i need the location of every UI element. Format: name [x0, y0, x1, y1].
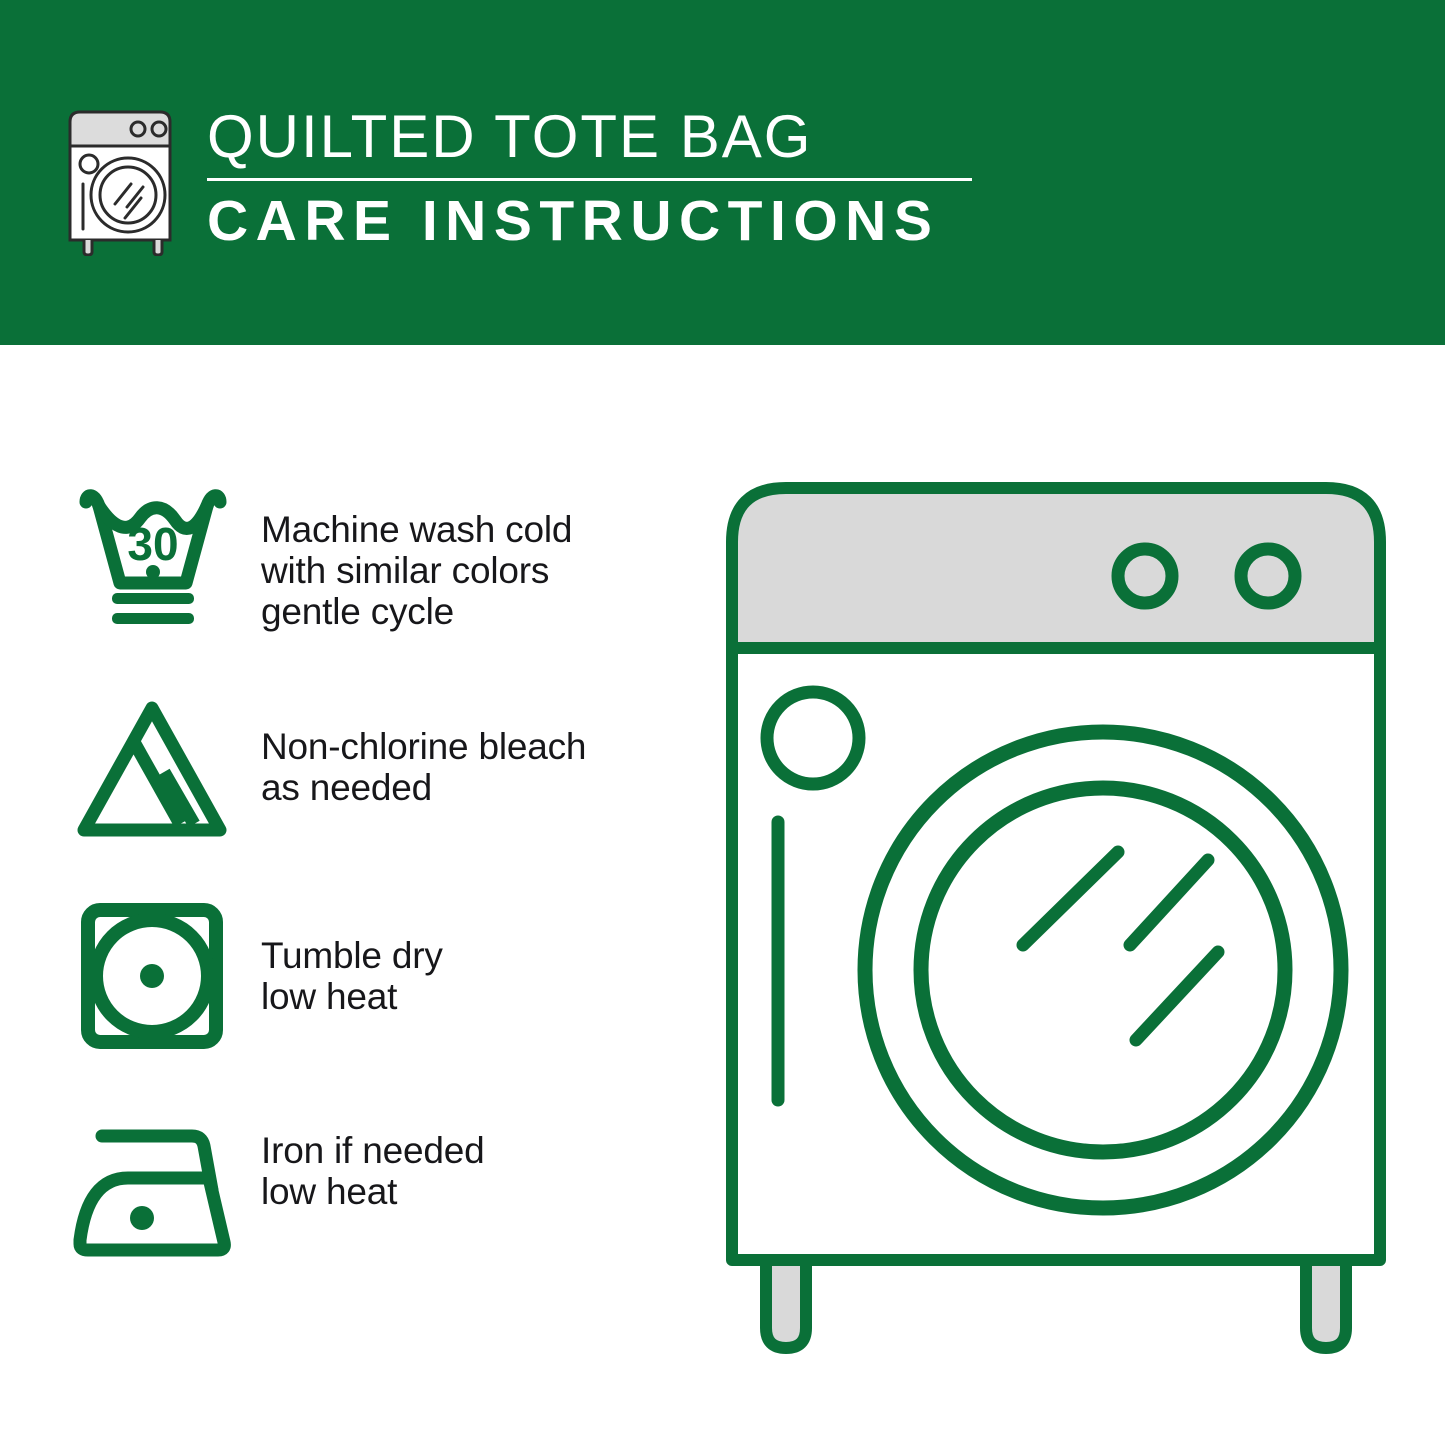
page-title: QUILTED TOTE BAG	[207, 104, 1007, 170]
instruction-text-wash: Machine wash cold with similar colors ge…	[236, 480, 700, 632]
front-load-washing-machine-illustration	[718, 470, 1408, 1370]
tumble-dry-icon	[68, 896, 236, 1056]
washer-control-panel	[732, 488, 1380, 648]
wash-tub-icon: 30	[68, 480, 236, 640]
instruction-line: Tumble dry	[261, 935, 700, 976]
iron-icon	[68, 1104, 236, 1264]
instruction-line: as needed	[261, 767, 700, 808]
header-banner: QUILTED TOTE BAG CARE INSTRUCTIONS	[0, 0, 1445, 345]
care-instructions-card: QUILTED TOTE BAG CARE INSTRUCTIONS	[0, 0, 1445, 1445]
bleach-triangle-icon	[68, 688, 236, 848]
washing-machine-icon	[62, 104, 184, 256]
page-subtitle: CARE INSTRUCTIONS	[207, 188, 1007, 254]
instruction-text-iron: Iron if needed low heat	[236, 1104, 700, 1212]
instruction-line: gentle cycle	[261, 591, 700, 632]
instruction-text-tumble-dry: Tumble dry low heat	[236, 896, 700, 1017]
instruction-row-iron: Iron if needed low heat	[0, 1104, 700, 1312]
instruction-line: Iron if needed	[261, 1130, 700, 1171]
header-divider	[207, 178, 972, 181]
instruction-line: Non-chlorine bleach	[261, 726, 700, 767]
instruction-row-tumble-dry: Tumble dry low heat	[0, 896, 700, 1104]
instruction-row-wash: 30 Machine wash cold with similar colors…	[0, 480, 700, 688]
wash-temperature-value: 30	[127, 518, 178, 570]
instruction-row-bleach: Non-chlorine bleach as needed	[0, 688, 700, 896]
instruction-line: low heat	[261, 976, 700, 1017]
instruction-line: with similar colors	[261, 550, 700, 591]
instruction-line: Machine wash cold	[261, 509, 700, 550]
header-text-block: QUILTED TOTE BAG CARE INSTRUCTIONS	[207, 104, 1007, 254]
instruction-list: 30 Machine wash cold with similar colors…	[0, 480, 700, 1312]
instruction-text-bleach: Non-chlorine bleach as needed	[236, 688, 700, 808]
instruction-line: low heat	[261, 1171, 700, 1212]
